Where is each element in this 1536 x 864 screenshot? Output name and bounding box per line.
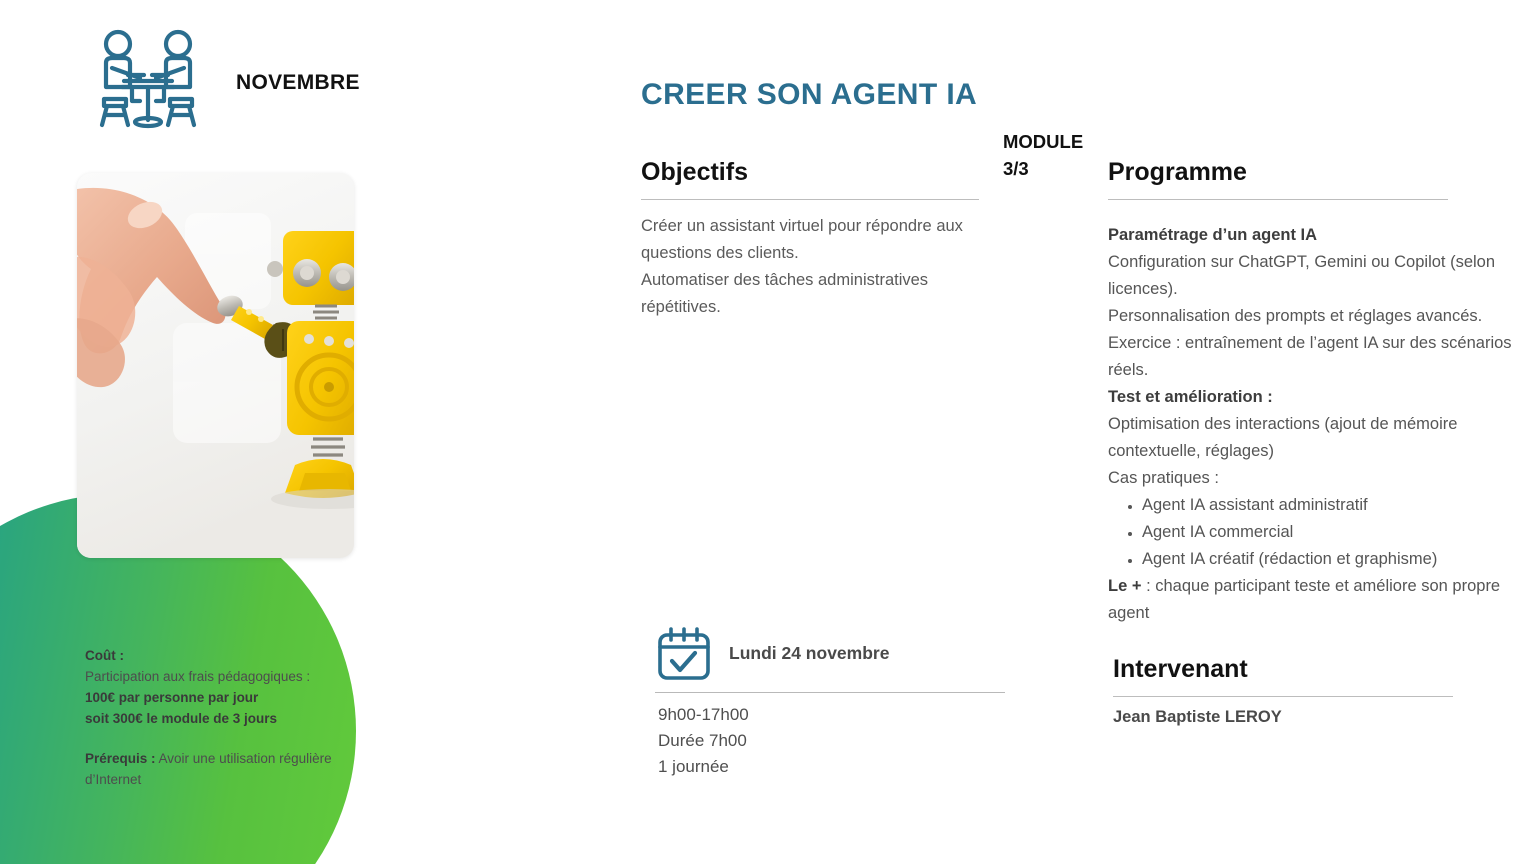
programme-divider <box>1108 199 1448 200</box>
intervenant-section: Intervenant Jean Baptiste LEROY <box>1113 655 1453 727</box>
objectifs-body: Créer un assistant virtuel pour répondre… <box>641 213 979 321</box>
programme-sub1-line1: Configuration sur ChatGPT, Gemini ou Cop… <box>1108 249 1520 303</box>
programme-sub1-line2: Personnalisation des prompts et réglages… <box>1108 303 1520 330</box>
programme-sub1-title: Paramétrage d’un agent IA <box>1108 222 1520 249</box>
date-divider <box>655 692 1005 693</box>
programme-use-cases-list: Agent IA assistant administratif Agent I… <box>1108 492 1520 573</box>
cost-participation: Participation aux frais pédagogiques : <box>85 666 375 687</box>
objectifs-divider <box>641 199 979 200</box>
list-item: Agent IA assistant administratif <box>1142 492 1520 519</box>
prerequisites-label: Prérequis : <box>85 751 156 766</box>
objectifs-heading: Objectifs <box>641 158 979 187</box>
prerequisites-line: Prérequis : Avoir une utilisation réguli… <box>85 748 375 790</box>
date-row: Lundi 24 novembre <box>655 622 1005 684</box>
date-hours: 9h00-17h00 <box>658 702 1005 728</box>
programme-sub2-line2: Cas pratiques : <box>1108 465 1520 492</box>
programme-sub1-line3: Exercice : entraînement de l’agent IA su… <box>1108 330 1520 384</box>
month-label: NOVEMBRE <box>236 71 360 95</box>
date-details: 9h00-17h00 Durée 7h00 1 journée <box>655 702 1005 780</box>
programme-plus-text: : chaque participant teste et améliore s… <box>1108 577 1500 622</box>
intervenant-divider <box>1113 696 1453 697</box>
robot-photo <box>77 173 354 558</box>
calendar-check-icon <box>655 624 713 682</box>
page-title: CREER SON AGENT IA <box>641 78 977 112</box>
date-section: Lundi 24 novembre 9h00-17h00 Durée 7h00 … <box>655 622 1005 780</box>
programme-sub2-line1: Optimisation des interactions (ajout de … <box>1108 411 1520 465</box>
programme-sub2-title: Test et amélioration : <box>1108 384 1520 411</box>
intervenant-heading: Intervenant <box>1113 655 1453 684</box>
cost-and-prerequisites: Coût : Participation aux frais pédagogiq… <box>85 645 375 790</box>
programme-section: Programme Paramétrage d’un agent IA Conf… <box>1108 158 1448 627</box>
module-badge: MODULE 3/3 <box>1003 128 1113 182</box>
module-label: MODULE <box>1003 128 1113 155</box>
objectifs-section: Objectifs Créer un assistant virtuel pou… <box>641 158 979 321</box>
date-days-count: 1 journée <box>658 754 1005 780</box>
intervenant-name: Jean Baptiste LEROY <box>1113 708 1453 727</box>
objectif-line-2: Automatiser des tâches administratives r… <box>641 267 979 321</box>
people-at-table-icon <box>88 23 208 143</box>
cost-per-person-per-day: 100€ par personne par jour <box>85 687 375 708</box>
list-item: Agent IA commercial <box>1142 519 1520 546</box>
cost-spacer <box>85 729 375 748</box>
month-header: NOVEMBRE <box>88 20 388 146</box>
date-duration: Durée 7h00 <box>658 728 1005 754</box>
programme-plus-label: Le + <box>1108 577 1141 595</box>
objectif-line-1: Créer un assistant virtuel pour répondre… <box>641 213 979 267</box>
cost-title: Coût : <box>85 645 375 666</box>
list-item: Agent IA créatif (rédaction et graphisme… <box>1142 546 1520 573</box>
cost-module-total: soit 300€ le module de 3 jours <box>85 708 375 729</box>
slide-canvas: NOVEMBRE <box>0 0 1536 864</box>
programme-plus-line: Le + : chaque participant teste et améli… <box>1108 573 1520 627</box>
module-number: 3/3 <box>1003 155 1113 182</box>
programme-body: Paramétrage d’un agent IA Configuration … <box>1108 222 1520 627</box>
date-day-label: Lundi 24 novembre <box>729 643 889 664</box>
programme-heading: Programme <box>1108 158 1448 187</box>
